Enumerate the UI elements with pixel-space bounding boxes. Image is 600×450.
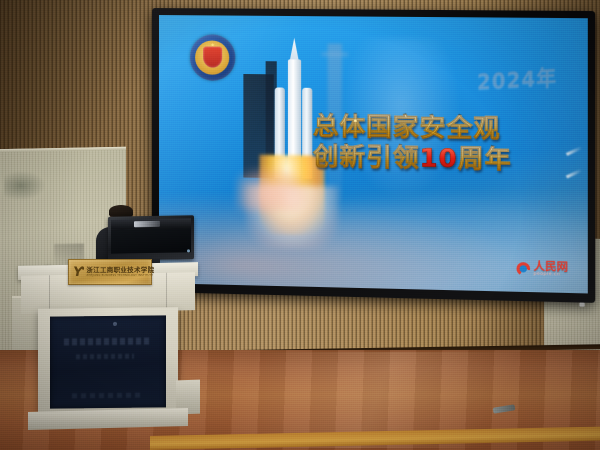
plaque-text-block: 浙江工商职业技术学院 ZHEJIANG BUSINESS TECHNOLOGY … xyxy=(86,267,154,278)
people-cn-url: people.cn xyxy=(533,272,568,277)
presentation-year-label: 2024年 xyxy=(477,60,557,96)
lecture-hall-photo: ★ 2024年 总体国家安全观 创新引领10周年 人民网 people.cn xyxy=(0,0,600,450)
screen-bezel: ★ 2024年 总体国家安全观 创新引领10周年 人民网 people.cn xyxy=(152,8,595,303)
headline-suffix: 周年 xyxy=(458,144,512,174)
podium-body xyxy=(38,307,178,416)
institution-logo-icon: Ƴ xyxy=(72,266,85,279)
launch-smoke xyxy=(237,167,310,212)
podium-panel-text-line-3 xyxy=(72,393,142,399)
podium-panel-text-line-1 xyxy=(64,338,150,346)
screen-indicator-dot xyxy=(579,302,584,306)
podium-front-dark-panel xyxy=(50,315,166,408)
presentation-headline: 总体国家安全观 创新引领10周年 xyxy=(313,114,564,175)
podium-seam-right xyxy=(166,273,167,311)
headline-number: 10 xyxy=(420,143,458,173)
national-security-emblem: ★ xyxy=(190,34,236,81)
people-cn-logo: 人民网 people.cn xyxy=(517,260,568,278)
rocket-nose-cone xyxy=(290,38,299,62)
screen-surface: ★ 2024年 总体国家安全观 创新引领10周年 人民网 people.cn xyxy=(159,15,588,293)
institution-name-cn: 浙江工商职业技术学院 xyxy=(86,267,154,274)
screen-glint-upper xyxy=(566,146,583,156)
headline-line-1: 总体国家安全观 xyxy=(313,114,564,145)
headline-line-2: 创新引领10周年 xyxy=(313,143,564,174)
wall-scuff-mark xyxy=(4,170,46,201)
podium-seam-left xyxy=(49,275,50,313)
led-video-wall[interactable]: ★ 2024年 总体国家安全观 创新引领10周年 人民网 people.cn xyxy=(152,8,595,303)
emblem-star-icon: ★ xyxy=(210,44,215,49)
people-cn-mark-icon xyxy=(517,262,531,276)
emblem-shield xyxy=(203,47,223,68)
podium-panel-text-line-2 xyxy=(76,354,134,360)
headline-prefix: 创新引领 xyxy=(313,141,420,172)
people-cn-text: 人民网 people.cn xyxy=(533,260,568,278)
people-cn-name: 人民网 xyxy=(533,260,568,272)
institution-plaque: Ƴ 浙江工商职业技术学院 ZHEJIANG BUSINESS TECHNOLOG… xyxy=(68,259,152,285)
podium-base xyxy=(28,408,188,430)
institution-name-en: ZHEJIANG BUSINESS TECHNOLOGY INSTITUTE xyxy=(86,275,154,278)
presenter-hair xyxy=(109,205,133,217)
emblem-wreath: ★ xyxy=(196,40,230,74)
podium-panel-dot xyxy=(113,322,117,326)
lectern-podium[interactable]: Ƴ 浙江工商职业技术学院 ZHEJIANG BUSINESS TECHNOLOG… xyxy=(18,250,198,430)
monitor-highlight xyxy=(134,221,160,227)
